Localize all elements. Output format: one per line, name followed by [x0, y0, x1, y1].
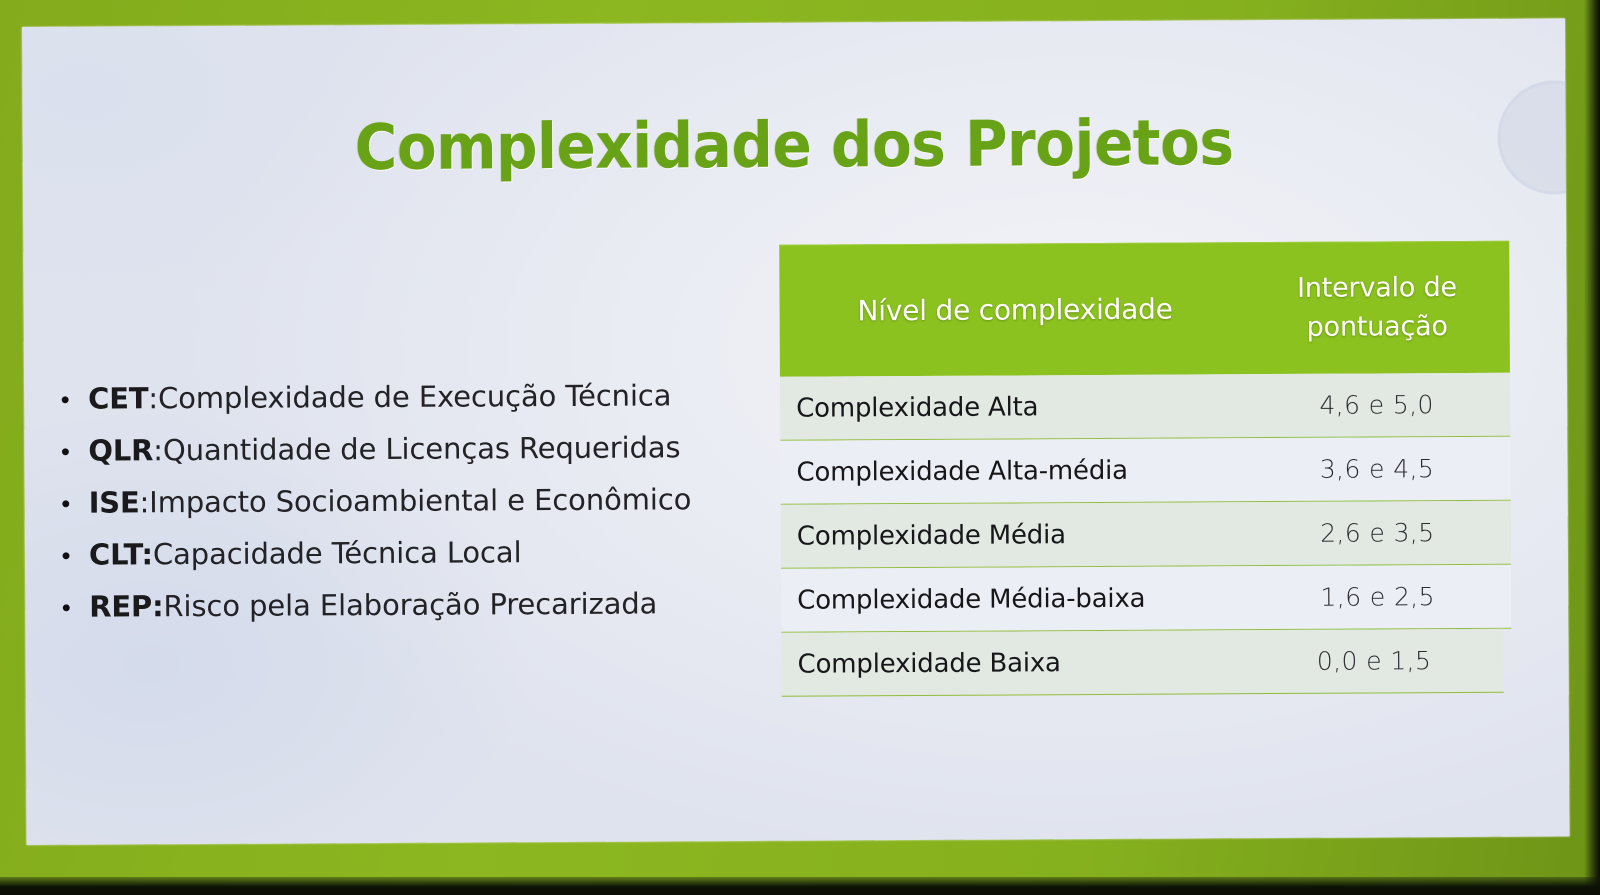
column-header-level: Nível de complexidade — [779, 243, 1251, 377]
complexity-levels-table: Nível de complexidade Intervalo de pontu… — [779, 241, 1512, 697]
cell-range: 2,6 e 3,5 — [1268, 518, 1511, 548]
list-item-label: Capacidade Técnica Local — [153, 535, 522, 571]
acronym-legend-list: • CET : Complexidade de Execução Técnica… — [50, 378, 771, 642]
table-row: Complexidade Baixa 0,0 e 1,5 — [781, 629, 1503, 697]
bullet-dot-icon: • — [50, 389, 88, 413]
list-item: • CET : Complexidade de Execução Técnica — [50, 378, 770, 416]
table-row: Complexidade Alta 4,6 e 5,0 — [780, 373, 1510, 441]
column-header-range-line2: pontuação — [1307, 308, 1448, 347]
list-item: • ISE : Impacto Socioambiental e Econômi… — [51, 482, 771, 520]
list-item: • CLT: Capacidade Técnica Local — [51, 534, 771, 572]
cell-range: 1,6 e 2,5 — [1268, 582, 1511, 612]
bullet-dot-icon: • — [51, 493, 89, 517]
table-row: Complexidade Alta-média 3,6 e 4,5 — [780, 437, 1510, 505]
bullet-dot-icon: • — [51, 545, 89, 569]
cell-level: Complexidade Média-baixa — [781, 583, 1268, 616]
cell-range: 4,6 e 5,0 — [1267, 390, 1510, 420]
list-item-key: REP: — [89, 589, 163, 623]
table-row: Complexidade Média 2,6 e 3,5 — [781, 501, 1511, 569]
list-item-label: Risco pela Elaboração Precarizada — [163, 586, 657, 623]
list-item-key: ISE — [89, 485, 140, 519]
projector-glare-circle — [1497, 80, 1569, 195]
photo-bottom-edge-shadow — [0, 877, 1600, 895]
presentation-slide: Complexidade dos Projetos • CET : Comple… — [22, 18, 1570, 845]
list-item-label: Impacto Socioambiental e Econômico — [149, 482, 691, 519]
table-row: Complexidade Média-baixa 1,6 e 2,5 — [781, 565, 1511, 633]
list-item-label: Complexidade de Execução Técnica — [158, 378, 672, 415]
list-item-key: QLR — [88, 433, 153, 467]
list-item-separator: : — [148, 381, 158, 415]
cell-level: Complexidade Alta — [780, 391, 1267, 424]
table-header-row: Nível de complexidade Intervalo de pontu… — [779, 241, 1510, 377]
cell-level: Complexidade Baixa — [781, 647, 1268, 680]
bullet-dot-icon: • — [50, 441, 88, 465]
column-header-range: Intervalo de pontuação — [1250, 242, 1510, 374]
list-item-key: CET — [88, 381, 148, 415]
cell-range: 0,0 e 1,5 — [1268, 646, 1503, 676]
cell-level: Complexidade Alta-média — [780, 455, 1267, 488]
bullet-dot-icon: • — [51, 597, 89, 621]
cell-range: 3,6 e 4,5 — [1267, 454, 1510, 484]
page-title: Complexidade dos Projetos — [84, 105, 1504, 186]
projected-screen-photo: Complexidade dos Projetos • CET : Comple… — [0, 0, 1600, 895]
list-item-separator: : — [139, 485, 149, 519]
list-item: • REP: Risco pela Elaboração Precarizada — [51, 586, 771, 624]
photo-right-edge-shadow — [1584, 0, 1600, 895]
list-item-label: Quantidade de Licenças Requeridas — [163, 430, 681, 467]
list-item-key: CLT: — [89, 537, 153, 571]
list-item: • QLR : Quantidade de Licenças Requerida… — [50, 430, 770, 468]
cell-level: Complexidade Média — [781, 519, 1268, 552]
list-item-separator: : — [153, 433, 163, 467]
column-header-range-line1: Intervalo de — [1297, 269, 1457, 308]
